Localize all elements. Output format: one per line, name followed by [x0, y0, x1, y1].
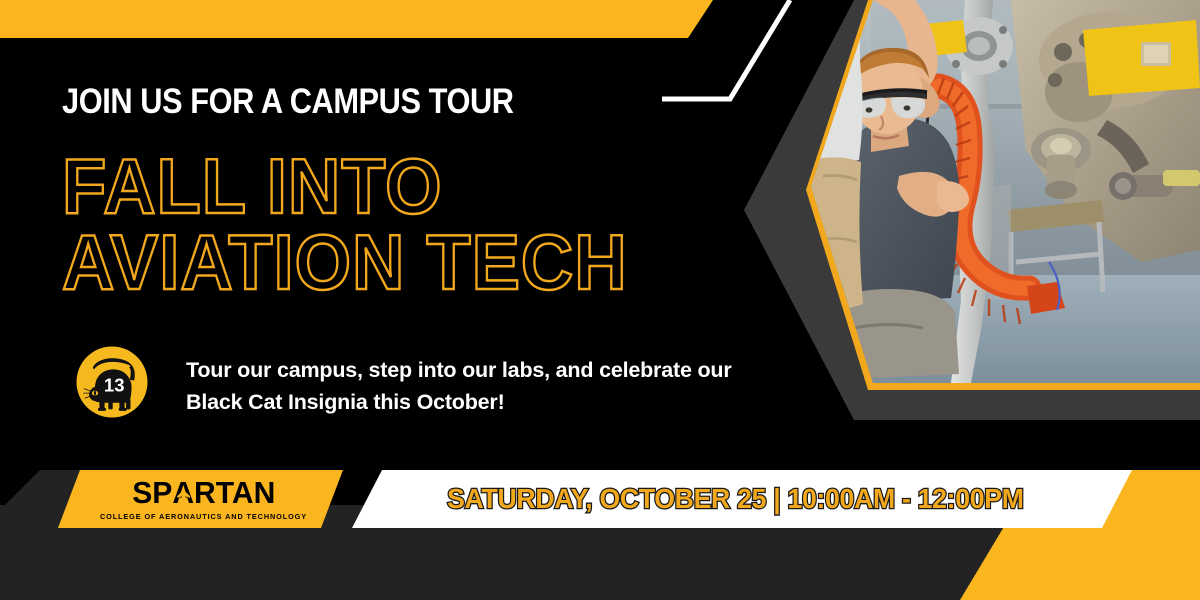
- eyebrow-heading: JOIN US FOR A CAMPUS TOUR: [62, 82, 514, 122]
- badge-number: 13: [104, 375, 125, 396]
- title-line-2: AVIATION TECH: [62, 224, 628, 300]
- spartan-wordmark: SP A RTAN: [132, 477, 275, 508]
- body-copy: Tour our campus, step into our labs, and…: [186, 355, 786, 418]
- title-line-1: FALL INTO: [62, 148, 628, 224]
- hero-photo: [811, 0, 1200, 383]
- date-plate: SATURDAY, OCTOBER 25 | 10:00AM - 12:00PM: [352, 470, 1132, 528]
- spartan-logo-plate: SP A RTAN COLLEGE OF AERONAUTICS AND TEC…: [58, 470, 343, 528]
- page-title: FALL INTO AVIATION TECH: [62, 148, 670, 301]
- white-accent-line: [600, 0, 820, 120]
- event-promo-banner: JOIN US FOR A CAMPUS TOUR FALL INTO AVIA…: [0, 0, 1200, 600]
- wordmark-letter-a: A: [172, 477, 194, 508]
- event-date-time: SATURDAY, OCTOBER 25 | 10:00AM - 12:00PM: [372, 470, 1113, 528]
- black-cat-insignia-icon: 13: [75, 345, 149, 419]
- wordmark-part-1: SP: [132, 477, 172, 508]
- spartan-tagline: COLLEGE OF AERONAUTICS AND TECHNOLOGY: [100, 512, 307, 521]
- wordmark-part-2: RTAN: [194, 477, 275, 508]
- spartan-aircraft-icon: [176, 485, 191, 502]
